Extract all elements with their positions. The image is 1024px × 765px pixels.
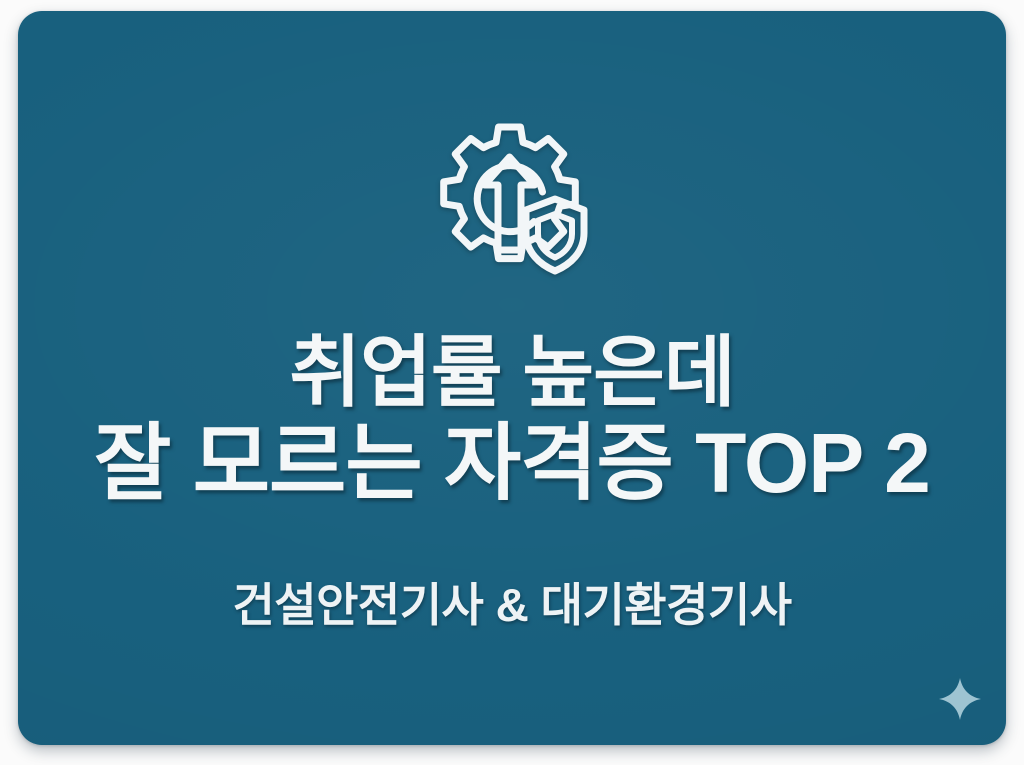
title-line-1: 취업률 높은데 — [46, 329, 978, 416]
page-title: 취업률 높은데 잘 모르는 자격증 TOP 2 — [18, 329, 1006, 510]
sparkle-icon — [938, 677, 982, 721]
gear-arrow-shield-icon — [422, 119, 602, 291]
slide-stage: 취업률 높은데 잘 모르는 자격증 TOP 2 건설안전기사 & 대기환경기사 — [0, 0, 1024, 765]
slide-card: 취업률 높은데 잘 모르는 자격증 TOP 2 건설안전기사 & 대기환경기사 — [18, 11, 1006, 745]
title-line-2: 잘 모르는 자격증 TOP 2 — [46, 416, 978, 510]
subtitle: 건설안전기사 & 대기환경기사 — [18, 569, 1006, 635]
